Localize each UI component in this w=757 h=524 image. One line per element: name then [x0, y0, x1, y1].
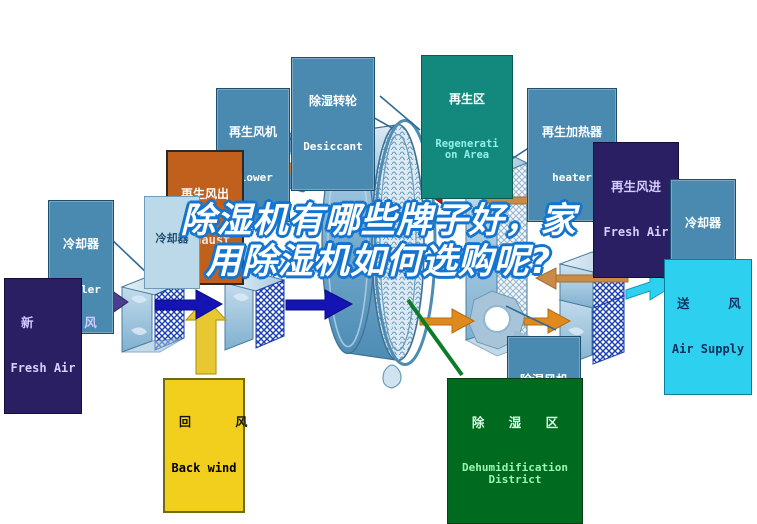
label-regen-area[interactable]: 再生区 Regenerati on Area — [421, 55, 513, 199]
label-desiccant-cn: 除湿转轮 — [294, 95, 372, 108]
label-desiccant-en: Desiccant — [294, 141, 372, 153]
label-cooler-middle-cn: 冷却器 — [147, 233, 197, 245]
label-back-wind[interactable]: 回 风 Back wind — [163, 378, 245, 513]
label-fresh-air-en: Fresh Air — [7, 362, 79, 375]
label-desiccant[interactable]: 除湿转轮 Desiccant — [291, 57, 375, 191]
label-dehum-district-cn: 除 湿 区 — [450, 416, 580, 429]
label-regen-fresh-air-cn: 再生风进 — [596, 180, 676, 193]
label-air-supply-en: Air Supply — [667, 343, 749, 356]
label-cooler-middle[interactable]: 冷却器 — [144, 196, 200, 289]
label-fresh-air-cn: 新 风 — [7, 316, 79, 329]
label-air-supply[interactable]: 送 风 Air Supply — [664, 259, 752, 395]
label-regen-fresh-air[interactable]: 再生风进 Fresh Air — [593, 142, 679, 278]
label-regen-fresh-air-en: Fresh Air — [596, 226, 676, 239]
label-cooler-right-cn: 冷却器 — [673, 217, 733, 230]
label-dehum-district[interactable]: 除 湿 区 Dehumidification District — [447, 378, 583, 524]
label-regen-area-en: Regenerati on Area — [424, 139, 510, 161]
label-air-supply-cn: 送 风 — [667, 297, 749, 310]
label-regen-blower-cn: 再生风机 — [219, 126, 287, 139]
label-cooler-left-cn: 冷却器 — [51, 238, 111, 251]
label-back-wind-en: Back wind — [167, 462, 241, 475]
svg-text:xt: xt — [389, 319, 402, 334]
label-fresh-air[interactable]: 新 风 Fresh Air — [4, 278, 82, 414]
label-back-wind-cn: 回 风 — [167, 416, 241, 429]
dehumidifier-diagram: xt — [0, 0, 757, 488]
label-dehum-district-en: Dehumidification District — [450, 462, 580, 485]
label-regen-area-cn: 再生区 — [424, 93, 510, 106]
label-regen-heater-cn: 再生加热器 — [530, 126, 614, 139]
